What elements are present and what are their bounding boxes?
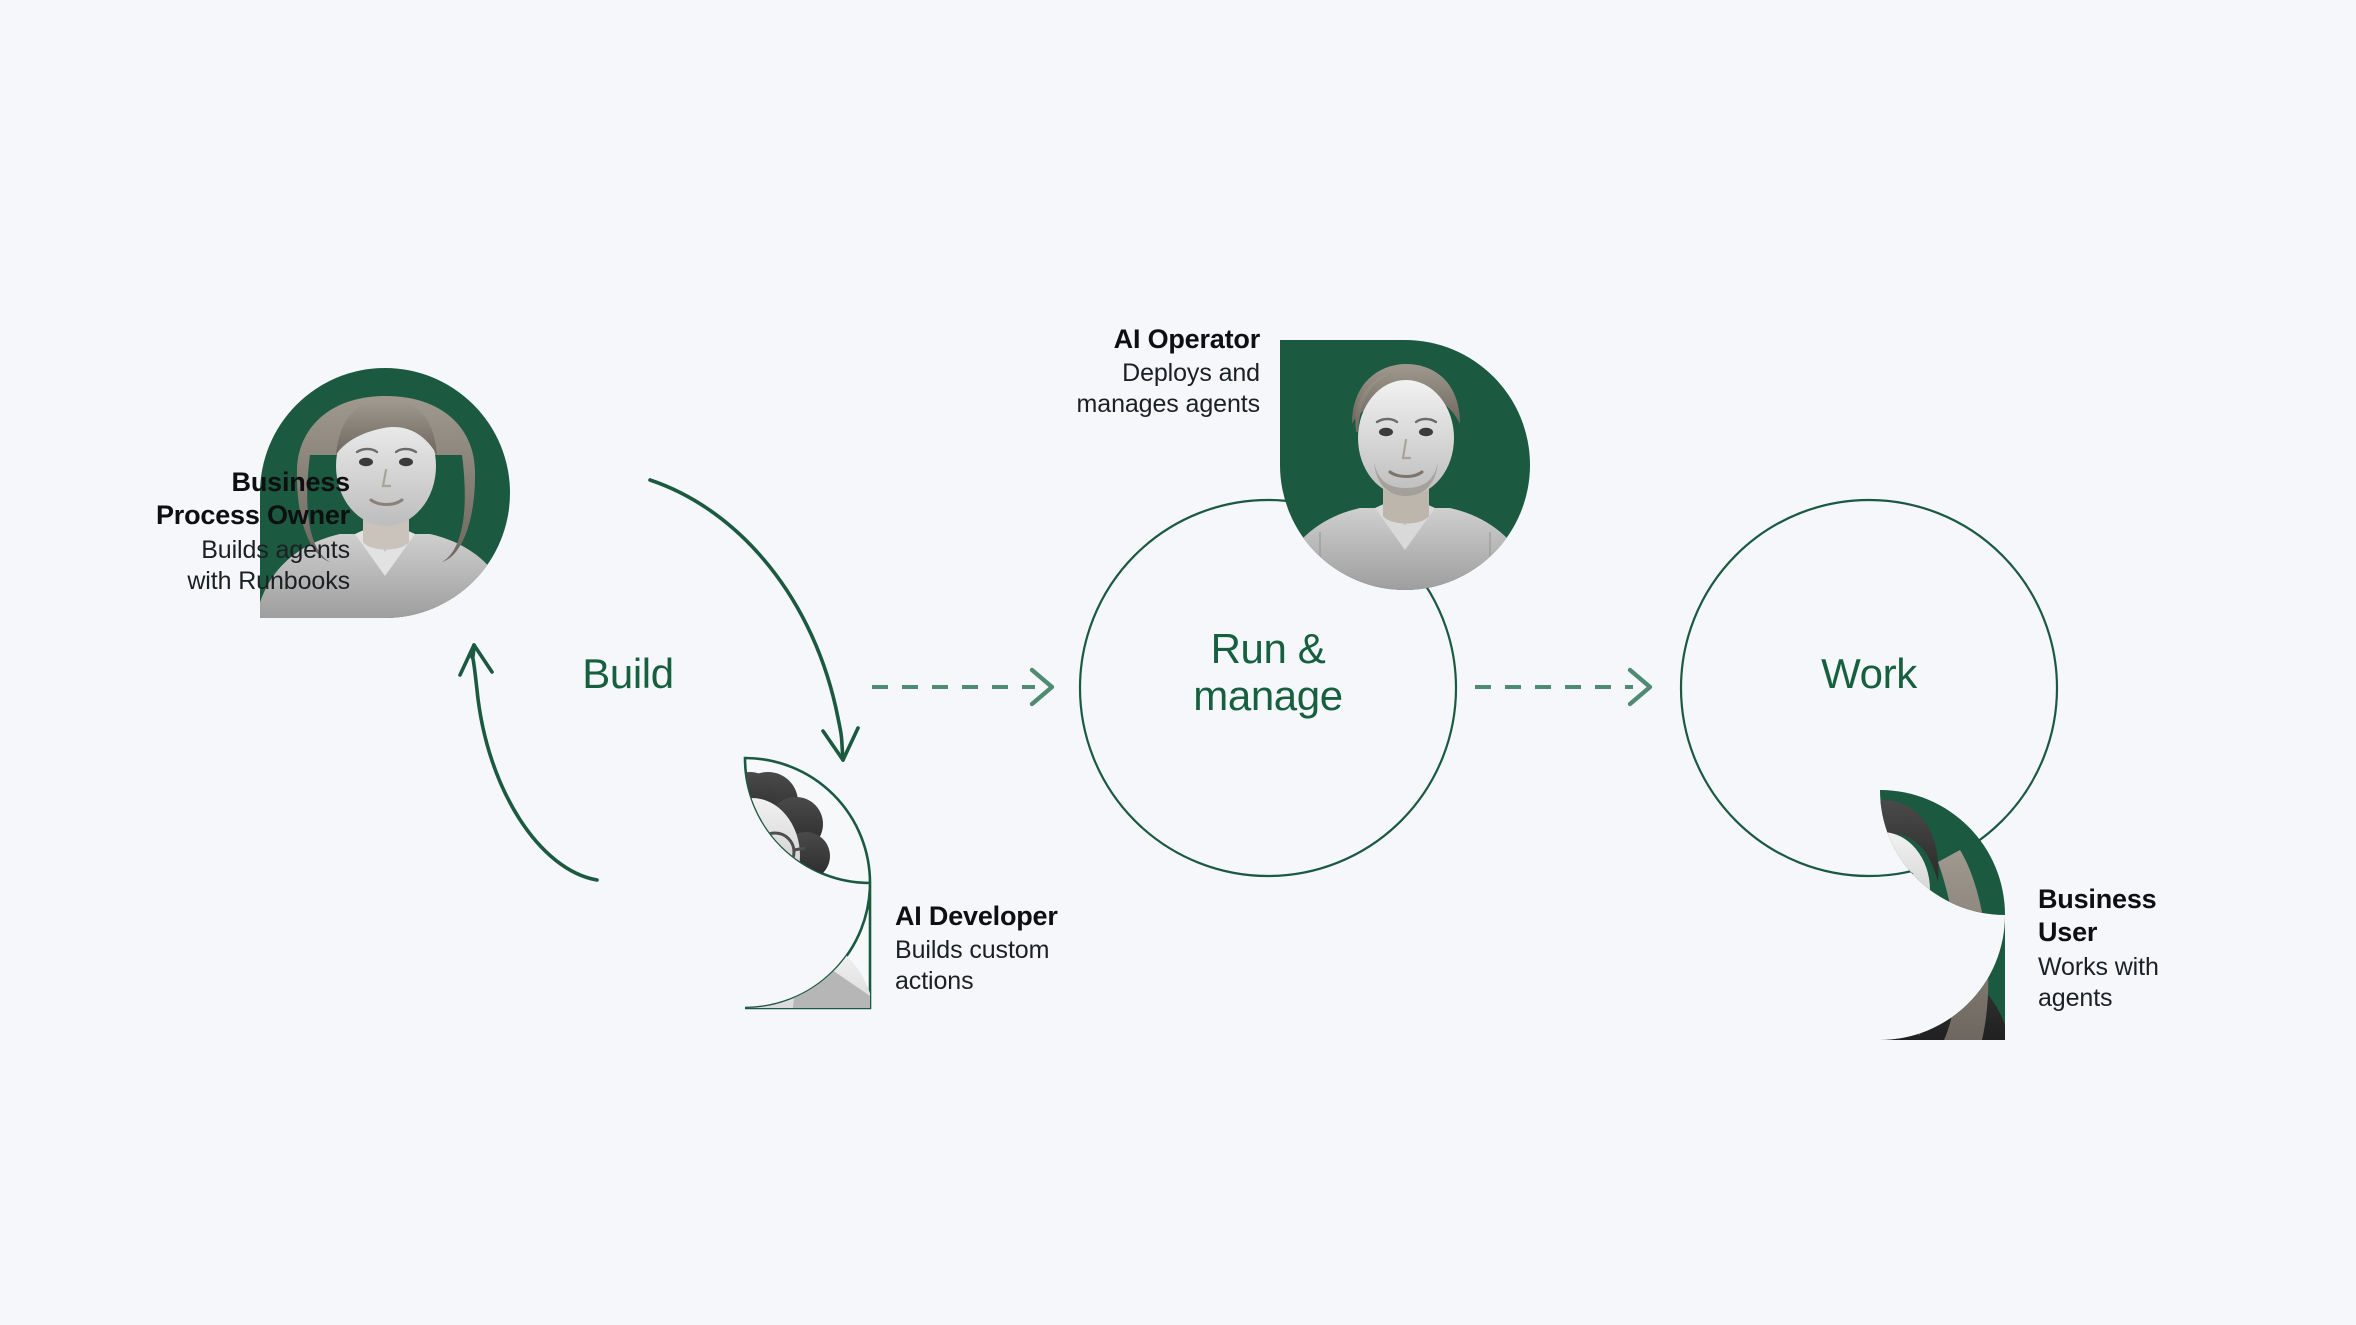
avatar-business-user: [1750, 790, 2010, 1047]
avatar-ai-operator: [1275, 340, 1535, 600]
stage-label-run-manage: Run & manage: [1118, 625, 1418, 719]
role-title-business-user: Business User: [2038, 883, 2328, 950]
caption-ai-operator: AI Operator Deploys and manages agents: [960, 323, 1260, 420]
caption-business-process-owner: Business Process Owner Builds agents wit…: [60, 466, 350, 597]
role-title-ai-developer: AI Developer: [895, 900, 1195, 933]
role-description-business-user: Works with agents: [2038, 952, 2328, 1014]
connector-build-to-run: [872, 670, 1052, 704]
role-description-business-process-owner: Builds agents with Runbooks: [60, 535, 350, 597]
connector-run-to-work: [1475, 670, 1650, 704]
role-title-business-process-owner: Business Process Owner: [60, 466, 350, 533]
avatar-ai-developer: [615, 758, 876, 1015]
connector-owner-to-developer: [650, 480, 858, 760]
caption-business-user: Business User Works with agents: [2038, 883, 2328, 1014]
role-description-ai-developer: Builds custom actions: [895, 935, 1195, 997]
caption-ai-developer: AI Developer Builds custom actions: [895, 900, 1195, 997]
role-title-ai-operator: AI Operator: [960, 323, 1260, 356]
stage-label-build: Build: [528, 650, 728, 697]
stage-label-work: Work: [1769, 650, 1969, 697]
diagram-canvas: Business Process Owner Builds agents wit…: [0, 0, 2356, 1325]
role-description-ai-operator: Deploys and manages agents: [960, 358, 1260, 420]
